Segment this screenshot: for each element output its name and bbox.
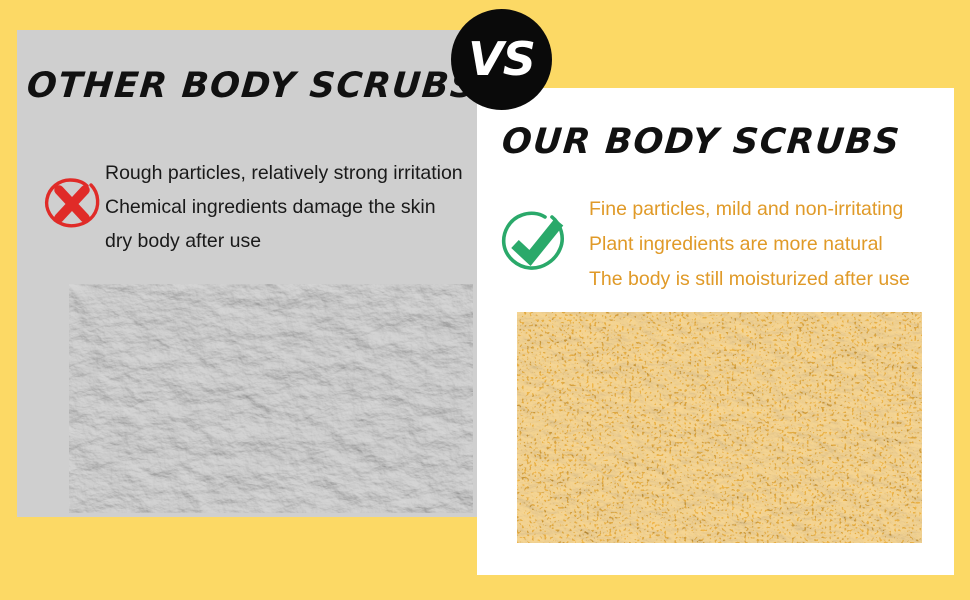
list-item: Rough particles, relatively strong irrit…	[105, 156, 495, 190]
comparison-infographic: OTHER BODY SCRUBS Rough particles, relat…	[0, 0, 970, 600]
other-scrubs-panel: OTHER BODY SCRUBS Rough particles, relat…	[17, 30, 477, 517]
vs-badge: VS	[451, 9, 552, 110]
list-item: Plant ingredients are more natural	[589, 227, 959, 262]
vs-badge-label: VS	[468, 36, 535, 82]
list-item: Chemical ingredients damage the skin	[105, 190, 495, 224]
list-item: Fine particles, mild and non-irritating	[589, 192, 959, 227]
orange-scrub-texture-photo	[517, 312, 922, 543]
cross-circle-icon	[39, 171, 105, 237]
other-scrubs-title: OTHER BODY SCRUBS	[25, 66, 458, 106]
our-scrubs-bullet-list: Fine particles, mild and non-irritating …	[589, 192, 959, 297]
our-scrubs-panel: OUR BODY SCRUBS Fine particles, mild and…	[477, 88, 954, 575]
gray-scrub-texture-photo	[69, 284, 473, 513]
our-scrubs-title: OUR BODY SCRUBS	[500, 122, 953, 162]
list-item: The body is still moisturized after use	[589, 262, 959, 297]
other-scrubs-bullet-list: Rough particles, relatively strong irrit…	[105, 156, 495, 258]
check-circle-icon	[497, 206, 571, 280]
list-item: dry body after use	[105, 224, 495, 258]
